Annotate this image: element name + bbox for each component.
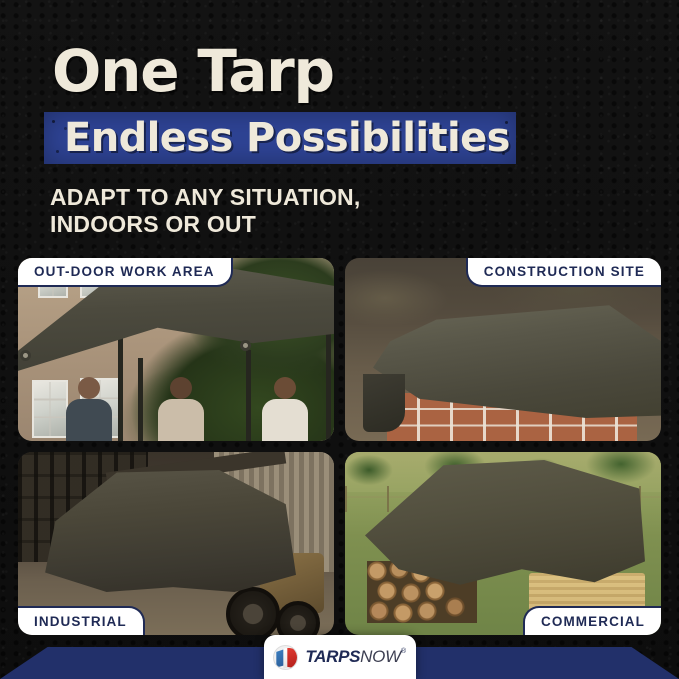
- gallery-tile-industrial[interactable]: INDUSTRIAL: [18, 452, 334, 635]
- person-figure: [158, 377, 204, 441]
- page-title: One Tarp: [52, 42, 334, 100]
- tarp-corner-flap: [363, 374, 405, 432]
- gallery-grid: OUT-DOOR WORK AREA CONSTRUCTION SITE: [18, 258, 661, 630]
- grommet-icon: [240, 340, 251, 351]
- canopy-pole: [138, 358, 143, 441]
- person-figure: [262, 377, 308, 441]
- poster-canvas: One Tarp Endless Possibilities ADAPT TO …: [0, 0, 679, 679]
- house-window-icon: [32, 380, 68, 438]
- person-figure: [66, 377, 112, 441]
- gallery-tile-label-outdoor-work-area: OUT-DOOR WORK AREA: [18, 258, 233, 287]
- brand-word-now: NOW: [360, 647, 401, 667]
- gallery-tile-construction-site[interactable]: CONSTRUCTION SITE: [345, 258, 661, 441]
- brand-word-tarps: TARPS: [305, 647, 360, 667]
- canopy-pole: [326, 320, 331, 441]
- canopy-pole: [246, 350, 251, 441]
- gallery-tile-label-construction-site: CONSTRUCTION SITE: [466, 258, 661, 287]
- brand-logo[interactable]: TARPSNOW®: [264, 635, 416, 679]
- gallery-tile-label-industrial: INDUSTRIAL: [18, 606, 145, 635]
- tarp-fold-circle-icon: [273, 645, 298, 670]
- wheel-icon: [226, 587, 280, 635]
- subtitle: ADAPT TO ANY SITUATION, INDOORS OR OUT: [50, 184, 360, 238]
- gallery-tile-outdoor-work-area[interactable]: OUT-DOOR WORK AREA: [18, 258, 334, 441]
- brand-wordmark: TARPSNOW®: [305, 647, 405, 667]
- gallery-tile-label-commercial: COMMERCIAL: [523, 606, 661, 635]
- headline-banner-text: Endless Possibilities: [64, 117, 510, 159]
- gallery-tile-commercial[interactable]: COMMERCIAL: [345, 452, 661, 635]
- grommet-icon: [20, 350, 31, 361]
- trademark-symbol: ®: [401, 648, 406, 655]
